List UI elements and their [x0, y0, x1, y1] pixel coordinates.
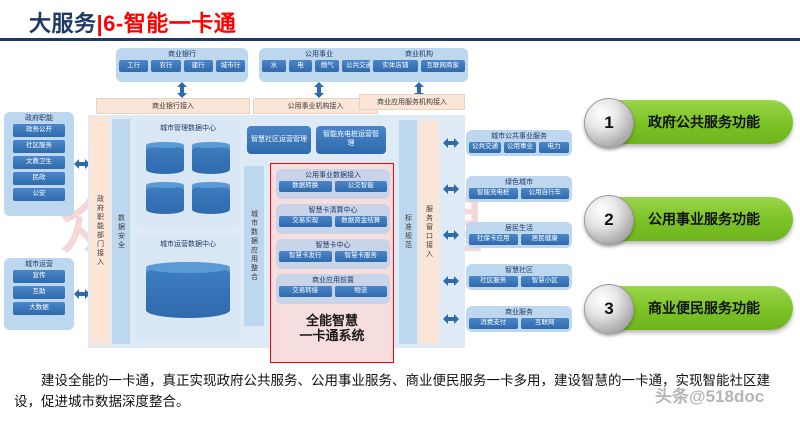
db-cylinder-1-icon	[146, 142, 184, 174]
core-system-box: 公用事业数据接入 数据转换 公交智能 智慧卡清算中心 交易实现 数据资金结算 智…	[270, 163, 394, 363]
chip-commerce-1[interactable]: 互联网商家	[421, 60, 466, 72]
service-group-green-city-chips: 智能充电桩 公用自行车	[466, 188, 572, 202]
vbar-service-window: 服务窗口接入	[419, 120, 439, 344]
chip-core-0-1[interactable]: 公交智能	[335, 181, 388, 192]
data-center-operation-title: 城市运营数据中心	[136, 236, 240, 249]
db-cylinder-2-icon	[192, 142, 230, 174]
chip-core-0-0[interactable]: 数据转换	[279, 181, 332, 192]
chip-service-3-0[interactable]: 社区服务	[469, 276, 518, 287]
chip-gov-0[interactable]: 政务公开	[13, 124, 65, 137]
chip-bank-2[interactable]: 建行	[184, 60, 213, 72]
function-panel-3-label: 商业便民服务功能	[648, 298, 760, 318]
chip-core-2-1[interactable]: 智慧卡服务	[335, 251, 388, 262]
core-system-label-line2: 一卡通系统	[271, 329, 393, 344]
service-group-resident-life-title: 居民生活	[505, 222, 533, 234]
service-group-public-utility-title: 城市公共事业服务	[491, 130, 547, 142]
ops-box-charging-pile-label: 智能充电桩运营管理	[320, 131, 382, 149]
data-center-management-title: 城市管理数据中心	[136, 120, 240, 133]
left-group-cityops-chips: 宣传 互助 大数据	[4, 270, 74, 318]
core-group-utility-data: 公用事业数据接入 数据转换 公交智能	[276, 169, 390, 199]
service-group-green-city-title: 绿色城市	[505, 176, 533, 188]
function-panel-3[interactable]: 3 商业便民服务功能	[588, 286, 793, 330]
db-cylinder-big-icon	[146, 262, 230, 318]
chip-gov-1[interactable]: 社区服务	[13, 140, 65, 153]
source-group-utility: 公用事业 水 电 燃气 公共交通	[259, 48, 379, 82]
core-group-clearing-title: 智慧卡清算中心	[309, 204, 358, 216]
arrow-right-service-4-icon	[443, 313, 459, 325]
chip-core-3-0[interactable]: 交易转接	[279, 286, 332, 297]
chip-commerce-0[interactable]: 实体店铺	[373, 60, 418, 72]
chip-service-1-1[interactable]: 公用自行车	[521, 188, 570, 199]
chip-gov-2[interactable]: 文教卫生	[13, 156, 65, 169]
service-group-commercial-chips: 消费支付 互联网	[466, 318, 572, 332]
title-sub: 6-智能一卡通	[103, 11, 236, 36]
source-group-bank-chips: 工行 农行 建行 城市行	[116, 60, 248, 75]
core-group-clearing: 智慧卡清算中心 交易实现 数据资金结算	[276, 204, 390, 234]
left-group-gov-title: 政府职能	[25, 112, 53, 124]
function-panel-2-label: 公用事业服务功能	[648, 209, 760, 229]
data-center-operation: 城市运营数据中心	[136, 236, 240, 340]
chip-bank-3[interactable]: 城市行	[216, 60, 245, 72]
chip-gov-4[interactable]: 公安	[13, 188, 65, 201]
arrow-down-bank-icon	[176, 82, 188, 98]
chip-bank-0[interactable]: 工行	[119, 60, 148, 72]
chip-core-2-0[interactable]: 智慧卡发行	[279, 251, 332, 262]
service-group-resident-life: 居民生活 社保卡应用 居民健康	[466, 222, 572, 248]
arrow-right-service-3-icon	[443, 275, 459, 287]
data-center-management: 城市管理数据中心	[136, 120, 240, 226]
chip-utility-2[interactable]: 燃气	[315, 60, 339, 72]
chip-service-1-0[interactable]: 智能充电桩	[469, 188, 518, 199]
vbar-standard-label: 标准规范	[405, 214, 412, 250]
core-group-clearing-chips: 交易实现 数据资金结算	[276, 216, 390, 230]
title-divider	[0, 38, 800, 41]
core-group-utility-data-title: 公用事业数据接入	[305, 169, 361, 181]
vbar-service-window-label: 服务窗口接入	[426, 205, 433, 259]
chip-gov-3[interactable]: 民政	[13, 172, 65, 185]
vbar-data-integration-label: 城市数据应用整合	[251, 210, 258, 282]
function-panel-1-number: 1	[584, 98, 634, 148]
chip-service-3-1[interactable]: 智慧小区	[521, 276, 570, 287]
footer-paragraph: 建设全能的一卡通，真正实现政府公共服务、公用事业服务、商业便民服务一卡多用，建设…	[14, 371, 786, 413]
footer-text: 建设全能的一卡通，真正实现政府公共服务、公用事业服务、商业便民服务一卡多用，建设…	[14, 371, 786, 413]
chip-utility-1[interactable]: 电	[289, 60, 313, 72]
chip-service-2-0[interactable]: 社保卡应用	[469, 234, 518, 245]
access-bar-commerce: 商业应用服务机构接入	[359, 94, 465, 110]
source-group-utility-chips: 水 电 燃气 公共交通	[259, 60, 379, 75]
function-panel-2[interactable]: 2 公用事业服务功能	[588, 197, 793, 241]
service-group-smart-community: 智慧社区 社区服务 智慧小区	[466, 264, 572, 290]
function-panel-1[interactable]: 1 政府公共服务功能	[588, 100, 793, 144]
vbar-data-security: 数据安全	[112, 119, 130, 344]
core-group-utility-data-chips: 数据转换 公交智能	[276, 181, 390, 195]
page-title: 大服务|6-智能一卡通	[29, 6, 236, 38]
chip-core-1-1[interactable]: 数据资金结算	[335, 216, 388, 227]
chip-core-1-0[interactable]: 交易实现	[279, 216, 332, 227]
chip-cityops-2[interactable]: 大数据	[13, 302, 65, 315]
chip-service-0-1[interactable]: 公用事业	[504, 142, 536, 153]
slide-root: 众力资源管理 头条@518doc 大服务|6-智能一卡通 商业银行 工行 农行 …	[0, 0, 800, 424]
service-group-smart-community-title: 智慧社区	[505, 264, 533, 276]
source-group-utility-title: 公用事业	[305, 48, 333, 60]
vbar-standard: 标准规范	[399, 120, 417, 344]
left-group-gov-chips: 政务公开 社区服务 文教卫生 民政 公安	[4, 124, 74, 204]
core-group-commerce-front: 商业应用前置 交易转接 物流	[276, 274, 390, 304]
core-system-label-line1: 全能智慧	[271, 314, 393, 329]
core-group-card-center: 智慧卡中心 智慧卡发行 智慧卡服务	[276, 239, 390, 269]
arrow-right-service-1-icon	[443, 183, 459, 195]
chip-utility-0[interactable]: 水	[262, 60, 286, 72]
service-group-public-utility-chips: 公共交通 公用事业 电力	[466, 142, 572, 156]
ops-box-charging-pile[interactable]: 智能充电桩运营管理	[316, 126, 386, 154]
vbar-data-security-label: 数据安全	[118, 214, 125, 250]
access-bar-bank: 商业银行接入	[96, 98, 250, 114]
db-cylinder-3-icon	[146, 182, 184, 214]
vbar-gov-access-label: 政府职能部门接入	[97, 195, 104, 267]
db-cylinder-4-icon	[192, 182, 230, 214]
vbar-gov-access: 政府职能部门接入	[90, 116, 110, 345]
chip-service-4-1[interactable]: 互联网	[521, 318, 570, 329]
service-group-commercial-title: 商业服务	[505, 306, 533, 318]
chip-service-4-0[interactable]: 消费支付	[469, 318, 518, 329]
chip-cityops-0[interactable]: 宣传	[13, 270, 65, 283]
chip-service-0-0[interactable]: 公共交通	[469, 142, 501, 153]
arrow-down-utility-icon	[313, 82, 325, 98]
left-group-gov: 政府职能 政务公开 社区服务 文教卫生 民政 公安	[4, 112, 74, 216]
chip-bank-1[interactable]: 农行	[151, 60, 180, 72]
service-group-commercial: 商业服务 消费支付 互联网	[466, 306, 572, 332]
service-group-public-utility: 城市公共事业服务 公共交通 公用事业 电力	[466, 130, 572, 156]
chip-core-3-1[interactable]: 物流	[335, 286, 388, 297]
source-group-bank: 商业银行 工行 农行 建行 城市行	[116, 48, 248, 82]
source-group-commerce-title: 商业机构	[405, 48, 433, 60]
vbar-data-integration: 城市数据应用整合	[244, 166, 264, 326]
core-group-card-center-title: 智慧卡中心	[316, 239, 351, 251]
core-system-label: 全能智慧 一卡通系统	[271, 314, 393, 344]
source-group-bank-title: 商业银行	[168, 48, 196, 60]
source-group-commerce: 商业机构 实体店铺 互联网商家	[370, 48, 468, 82]
service-group-smart-community-chips: 社区服务 智慧小区	[466, 276, 572, 290]
arrow-right-service-0-icon	[443, 137, 459, 149]
service-group-resident-life-chips: 社保卡应用 居民健康	[466, 234, 572, 248]
chip-service-0-2[interactable]: 电力	[539, 142, 569, 153]
function-panel-3-number: 3	[584, 284, 634, 334]
core-group-commerce-front-title: 商业应用前置	[312, 274, 354, 286]
chip-service-2-1[interactable]: 居民健康	[521, 234, 570, 245]
arrow-right-service-2-icon	[443, 229, 459, 241]
function-panel-2-number: 2	[584, 195, 634, 245]
source-group-commerce-chips: 实体店铺 互联网商家	[370, 60, 468, 75]
left-group-cityops-title: 城市运营	[25, 258, 53, 270]
function-panel-1-label: 政府公共服务功能	[648, 112, 760, 132]
chip-cityops-1[interactable]: 互助	[13, 286, 65, 299]
service-group-green-city: 绿色城市 智能充电桩 公用自行车	[466, 176, 572, 202]
ops-box-smart-community[interactable]: 智慧社区运营管理	[247, 126, 311, 154]
core-group-commerce-front-chips: 交易转接 物流	[276, 286, 390, 300]
core-group-card-center-chips: 智慧卡发行 智慧卡服务	[276, 251, 390, 265]
left-group-cityops: 城市运营 宣传 互助 大数据	[4, 258, 74, 330]
ops-box-smart-community-label: 智慧社区运营管理	[251, 136, 307, 145]
title-main: 大服务	[29, 11, 97, 36]
